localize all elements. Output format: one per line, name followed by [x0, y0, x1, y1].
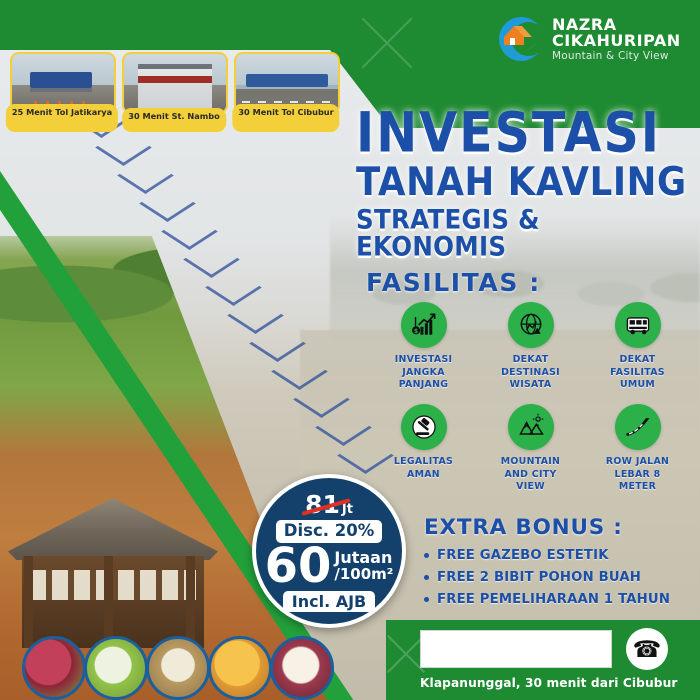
- gavel-icon: [401, 404, 447, 450]
- gazebo-post: [186, 556, 195, 648]
- bullet-icon: [424, 575, 429, 580]
- chevron-arrow-pattern: [95, 130, 395, 530]
- globe-travel-icon: [508, 302, 554, 348]
- phone-handset-icon[interactable]: ☎: [626, 628, 668, 670]
- headline-block: INVESTASI TANAH KAVLING STRATEGIS & EKON…: [356, 108, 692, 256]
- bonus-item-label: FREE PEMELIHARAAN 1 TAHUN: [437, 592, 670, 607]
- price-area-unit: /100m²: [334, 567, 393, 583]
- facility-label: INVESTASIJANGKAPANJANG: [395, 354, 453, 392]
- facilities-row: LEGALITASAMAN MOUNTAINAND CITYVIEW: [370, 404, 692, 494]
- phone-number-input[interactable]: [420, 630, 612, 668]
- old-price-unit: Jt: [342, 502, 353, 517]
- gazebo-post: [104, 556, 113, 648]
- growth-chart-dollar-icon: $: [401, 302, 447, 348]
- facility-item-dekat-fasilitas-umum: DEKATFASILITASUMUM: [584, 302, 691, 392]
- location-card: [122, 52, 228, 114]
- facility-item-mountain-and-city-view: MOUNTAINAND CITYVIEW: [477, 404, 584, 494]
- facility-label: MOUNTAINAND CITYVIEW: [501, 456, 560, 494]
- brand-name-line2: CIKAHURIPAN: [552, 33, 681, 49]
- fruit-photo: [146, 636, 210, 700]
- bus-icon: [615, 302, 661, 348]
- price-value: 60: [265, 546, 332, 587]
- svg-text:$: $: [413, 328, 417, 335]
- fruit-photo: [22, 636, 86, 700]
- headline-line2: TANAH KAVLING: [356, 163, 692, 202]
- old-price-group: 81 Jt: [305, 492, 353, 517]
- facilities-row: $ INVESTASIJANGKAPANJANG: [370, 302, 692, 392]
- gazebo-post: [24, 556, 33, 648]
- bonus-list-item: FREE GAZEBO ESTETIK: [424, 548, 694, 563]
- bullet-icon: [424, 553, 429, 558]
- facility-item-investasi-jangka-panjang: $ INVESTASIJANGKAPANJANG: [370, 302, 477, 392]
- facility-label: ROW JALANLEBAR 8METER: [606, 456, 669, 494]
- fruit-photo: [270, 636, 334, 700]
- headline-line3: STRATEGIS & EKONOMIS: [356, 207, 692, 260]
- brand-name-block: NAZRA CIKAHURIPAN Mountain & City View: [552, 17, 681, 62]
- footer-green-bar: ☎ Klapanunggal, 30 menit dari Cibubur: [386, 620, 700, 700]
- headline-line1: INVESTASI: [356, 108, 692, 158]
- fruit-photo-strip: [22, 636, 322, 700]
- bonus-list: FREE GAZEBO ESTETIK FREE 2 BIBIT POHON B…: [424, 548, 694, 614]
- facility-label: DEKATFASILITASUMUM: [610, 354, 665, 392]
- facility-item-row-jalan-lebar-8-meter: ROW JALANLEBAR 8METER: [584, 404, 691, 494]
- fruit-photo: [208, 636, 272, 700]
- bullet-icon: [424, 597, 429, 602]
- mountain-city-icon: [508, 404, 554, 450]
- mountain-house-circle-logo-icon: [492, 13, 544, 65]
- included-ajb-label: Incl. AJB: [283, 591, 376, 612]
- location-card-label: 25 Menit Tol Jatikarya: [6, 104, 118, 132]
- price-main-group: 60 Jutaan /100m²: [265, 546, 394, 587]
- location-card-label: 30 Menit Tol Cibubur: [232, 104, 339, 132]
- location-cards: 25 Menit Tol Jatikarya 30 Menit St. Namb…: [8, 52, 338, 124]
- road-icon: [615, 404, 661, 450]
- facility-item-dekat-destinasi-wisata: DEKATDESTINASIWISATA: [477, 302, 584, 392]
- decorative-x-mark: [352, 8, 422, 78]
- facility-label: LEGALITASAMAN: [394, 456, 453, 481]
- facilities-grid: $ INVESTASIJANGKAPANJANG: [370, 302, 692, 494]
- bonus-list-item: FREE PEMELIHARAAN 1 TAHUN: [424, 592, 694, 607]
- location-note: Klapanunggal, 30 menit dari Cibubur: [420, 676, 677, 690]
- location-card-label: 30 Menit St. Nambo: [122, 108, 226, 132]
- gazebo-railing: [30, 570, 196, 600]
- price-badge: 81 Jt Disc. 20% 60 Jutaan /100m² Incl. A…: [252, 474, 406, 628]
- brand-logo: NAZRA CIKAHURIPAN Mountain & City View: [492, 12, 692, 66]
- bonus-item-label: FREE GAZEBO ESTETIK: [437, 548, 609, 563]
- brand-tagline: Mountain & City View: [552, 51, 681, 62]
- bonus-title: EXTRA BONUS :: [424, 515, 623, 540]
- bonus-item-label: FREE 2 BIBIT POHON BUAH: [437, 570, 641, 585]
- poster-canvas: NAZRA CIKAHURIPAN Mountain & City View 2…: [0, 0, 700, 700]
- facilities-title: FASILITAS :: [366, 268, 541, 297]
- facility-label: DEKATDESTINASIWISATA: [501, 354, 560, 392]
- fruit-photo: [84, 636, 148, 700]
- bonus-list-item: FREE 2 BIBIT POHON BUAH: [424, 570, 694, 585]
- facility-item-legalitas-aman: LEGALITASAMAN: [370, 404, 477, 494]
